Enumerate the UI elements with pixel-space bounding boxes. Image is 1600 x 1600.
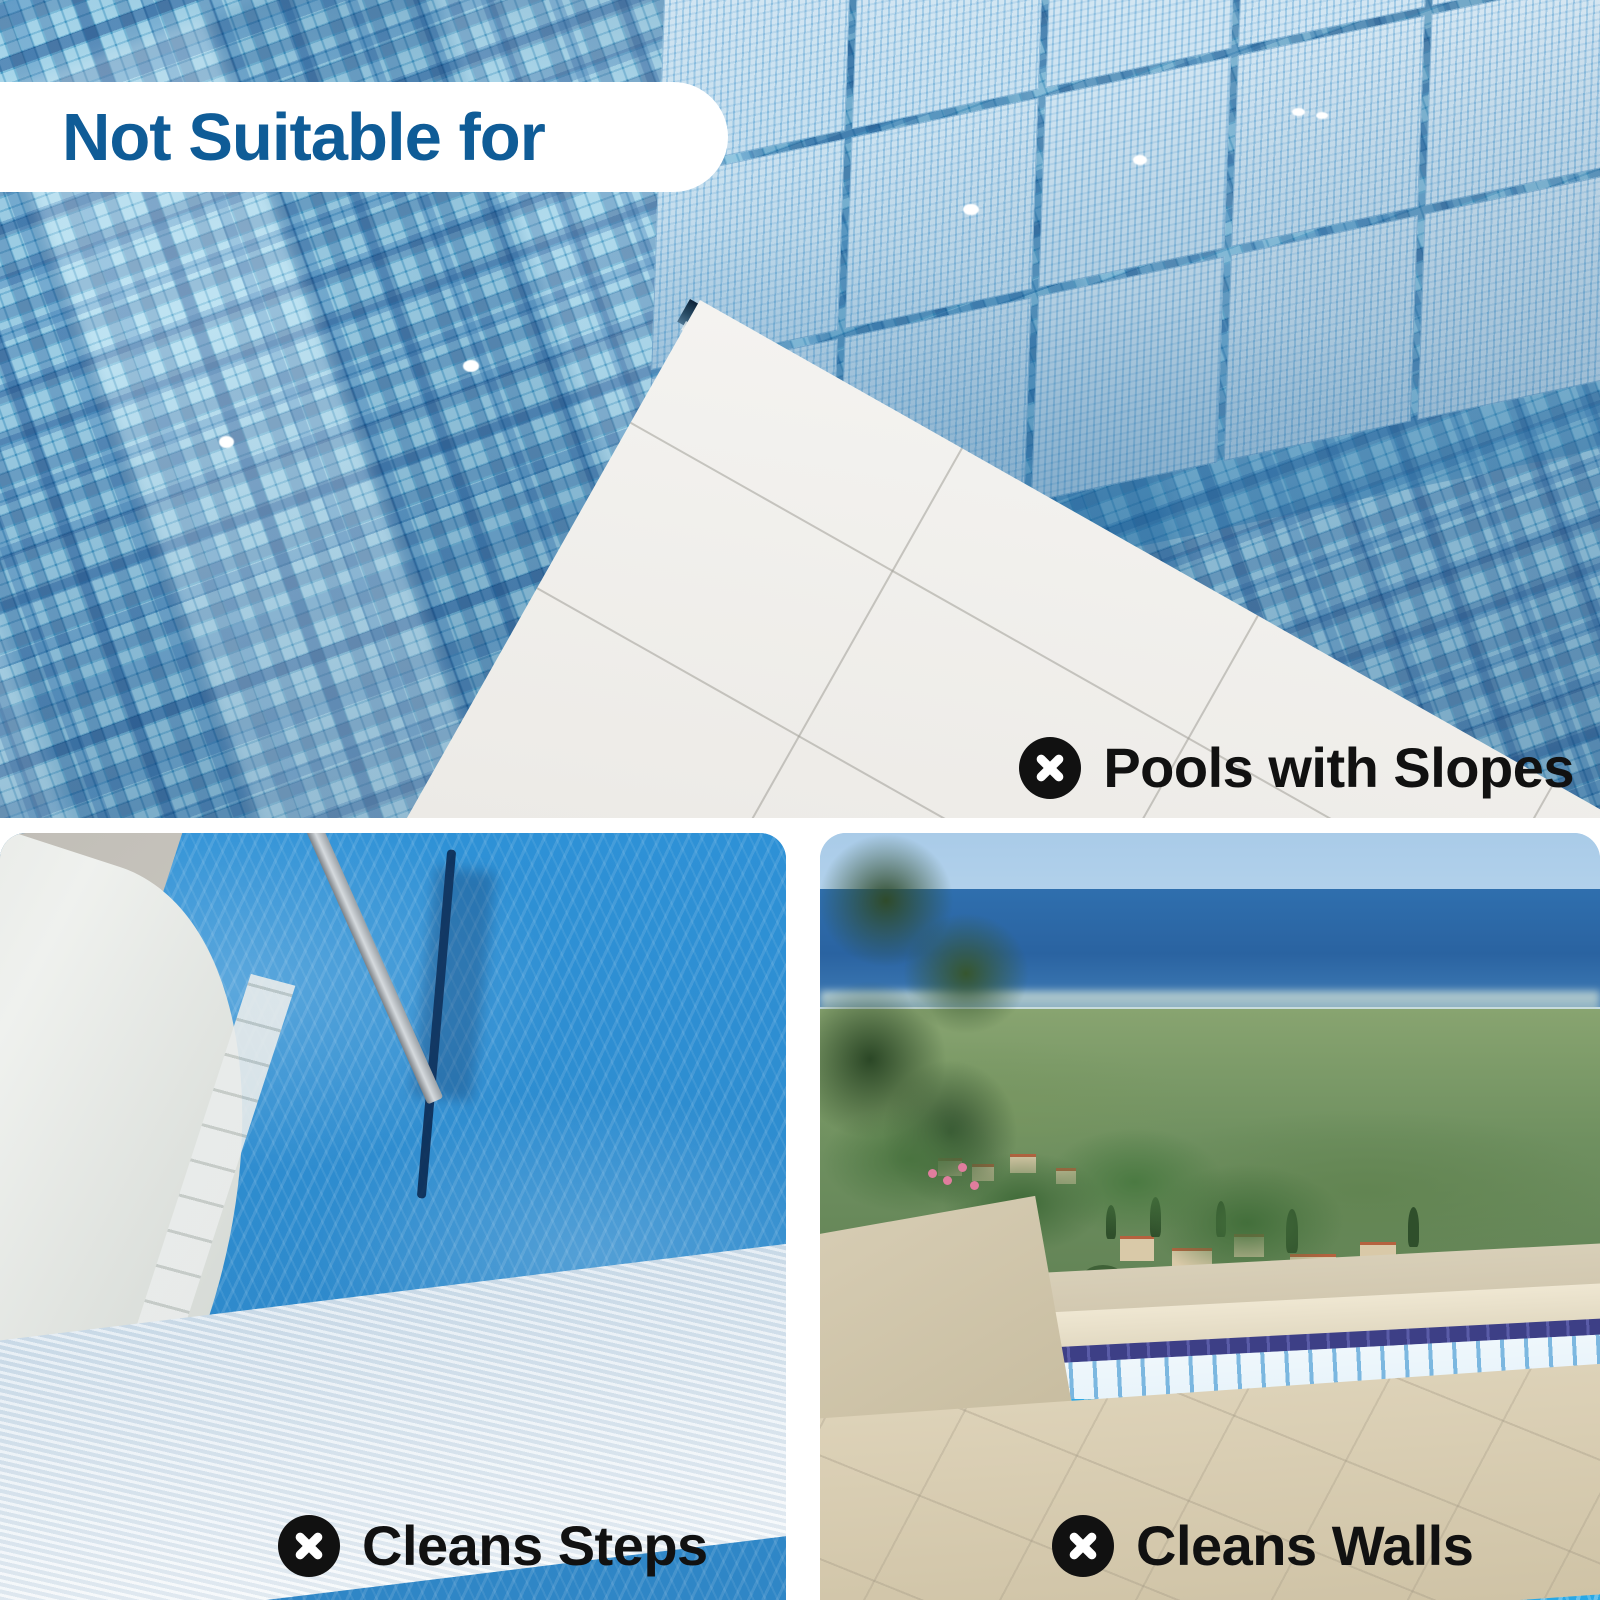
- caption-cleans-walls: Cleans Walls: [1052, 1513, 1473, 1578]
- flower: [970, 1181, 979, 1190]
- panel-cleans-walls: Cleans Walls: [820, 833, 1600, 1600]
- x-circle-icon: [1052, 1515, 1114, 1577]
- water-sparkle: [219, 436, 234, 448]
- panel-pools-with-slopes: Not Suitable for Pools with Slopes: [0, 0, 1600, 818]
- water-sparkle: [963, 204, 979, 215]
- water-sparkle: [1316, 112, 1328, 119]
- caption-label: Pools with Slopes: [1103, 735, 1574, 800]
- caption-cleans-steps: Cleans Steps: [278, 1513, 708, 1578]
- flower: [958, 1163, 967, 1172]
- vertical-gutter: [786, 818, 820, 1600]
- water-sparkle: [463, 360, 479, 372]
- not-suitable-badge: Not Suitable for: [0, 82, 728, 192]
- flower: [943, 1176, 952, 1185]
- caption-pools-with-slopes: Pools with Slopes: [1019, 735, 1574, 800]
- water-sparkle: [1292, 108, 1305, 116]
- poster-root: Not Suitable for Pools with Slopes: [0, 0, 1600, 1600]
- caption-label: Cleans Walls: [1136, 1513, 1473, 1578]
- x-circle-icon: [278, 1515, 340, 1577]
- water-sparkle: [1133, 155, 1147, 165]
- flower: [928, 1169, 937, 1178]
- x-circle-icon: [1019, 737, 1081, 799]
- caption-label: Cleans Steps: [362, 1513, 708, 1578]
- cypress-tree: [1408, 1207, 1419, 1247]
- panel-cleans-steps: Cleans Steps: [0, 833, 786, 1600]
- page-title: Not Suitable for: [62, 99, 545, 176]
